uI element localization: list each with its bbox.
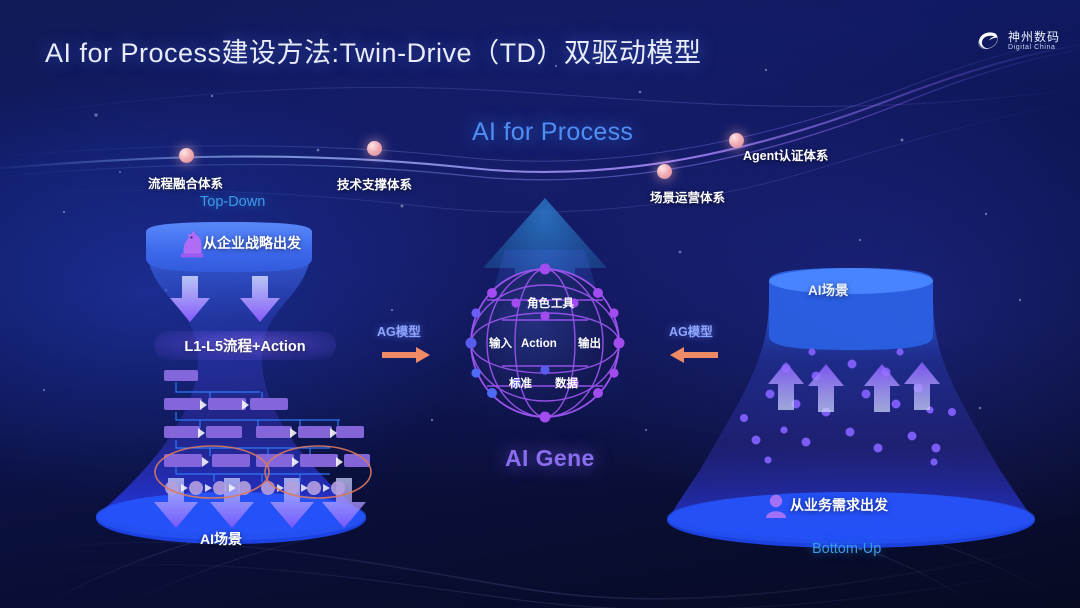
left-funnel-pill-label: L1-L5流程+Action: [184, 335, 305, 356]
sphere-node-1: 工具: [551, 297, 574, 310]
background-decoration: 角色 工具 输入 Action 输出 标准 数据: [0, 0, 1080, 608]
left-connector-label: AG模型: [377, 321, 421, 340]
swirl-logo-icon: [975, 28, 1001, 54]
left-funnel-pill: L1-L5流程+Action: [154, 331, 336, 360]
ai-gene-label: AI Gene: [505, 445, 595, 472]
slide-canvas: 角色 工具 输入 Action 输出 标准 数据 AI for Process建…: [0, 0, 1080, 608]
logo-en-text: Digital China: [1008, 44, 1060, 51]
sphere-node-3: 输出: [578, 336, 601, 350]
node-dot-4: [729, 133, 744, 148]
node-label-3: 场景运营体系: [650, 187, 725, 206]
node-dot-2: [367, 141, 382, 156]
left-funnel-header: 从企业战略出发: [203, 233, 301, 253]
node-dot-3: [657, 164, 672, 179]
node-label-1: 流程融合体系: [148, 173, 223, 192]
right-funnel-header: AI场景: [808, 279, 849, 299]
right-direction-label: Bottom-Up: [812, 541, 881, 557]
sphere-node-center: Action: [521, 338, 557, 350]
right-funnel-footer: 从业务需求出发: [790, 495, 888, 515]
left-connector-arrow-icon: [382, 347, 430, 363]
brand-logo: 神州数码 Digital China: [975, 28, 1060, 54]
sphere-node-5: 数据: [555, 376, 578, 390]
left-direction-label: Top-Down: [200, 194, 265, 210]
node-dot-1: [179, 148, 194, 163]
sphere-node-0: 角色: [527, 296, 550, 310]
left-funnel-footer: AI场景: [200, 529, 242, 549]
center-heading: AI for Process: [472, 118, 633, 147]
sphere-node-2: 输入: [489, 336, 512, 350]
logo-cn-text: 神州数码: [1008, 31, 1060, 44]
sphere-node-4: 标准: [508, 376, 532, 390]
node-label-2: 技术支撑体系: [337, 174, 412, 193]
right-connector-arrow-icon: [670, 347, 718, 363]
node-label-4: Agent认证体系: [743, 145, 828, 164]
right-connector-label: AG模型: [669, 321, 713, 340]
page-title: AI for Process建设方法:Twin-Drive（TD）双驱动模型: [45, 31, 702, 70]
